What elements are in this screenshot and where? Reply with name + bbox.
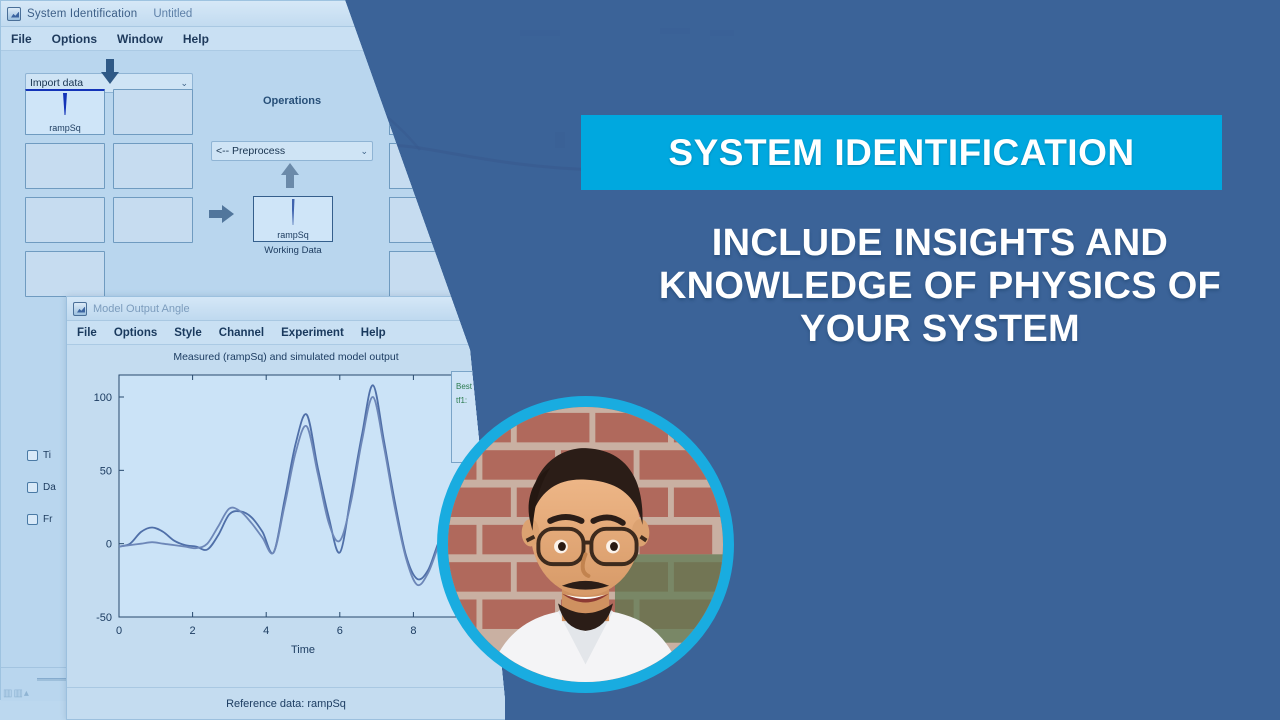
model-output-window: Model Output Angle File Options Style Ch… — [66, 296, 506, 720]
data-cell-empty[interactable] — [113, 89, 193, 135]
data-cell-empty[interactable] — [25, 143, 105, 189]
mo-menu-file[interactable]: File — [77, 327, 97, 339]
si-menubar: File Options Window Help — [1, 27, 529, 51]
operations-label: Operations — [263, 95, 321, 107]
svg-text:100: 100 — [94, 392, 112, 404]
chevron-down-icon: ⌄ — [360, 146, 368, 157]
preprocess-select[interactable]: <-- Preprocess ⌄ — [211, 141, 373, 161]
si-menu-file[interactable]: File — [11, 32, 32, 46]
si-status-glyphs: ▥▥▴ — [3, 688, 30, 699]
checkbox-box[interactable] — [27, 482, 38, 493]
checkbox-label: Fr — [43, 514, 52, 525]
working-data-box[interactable]: rampSq — [253, 196, 333, 242]
signal-spike-icon — [63, 93, 67, 115]
data-cell-empty[interactable] — [113, 197, 193, 243]
headline-banner: SYSTEM IDENTIFICATION — [581, 115, 1222, 190]
arrow-up-icon — [279, 163, 301, 194]
signal-spike-icon — [292, 199, 295, 225]
si-window-subtitle: Untitled — [153, 8, 192, 20]
import-data-value: Import data — [30, 77, 83, 89]
mo-menu-help[interactable]: Help — [361, 327, 386, 339]
chevron-down-icon: ⌄ — [180, 78, 188, 89]
checkbox-label: Ti — [43, 450, 51, 461]
legend-entry-tf1: tf1: — [456, 394, 532, 408]
avatar — [437, 396, 734, 693]
si-menu-options[interactable]: Options — [52, 32, 97, 46]
checkbox-box[interactable] — [27, 450, 38, 461]
checkbox-frequency-resp[interactable]: Fr — [27, 514, 52, 525]
svg-text:Time: Time — [291, 644, 315, 656]
model-cell-empty[interactable] — [389, 251, 465, 297]
checkbox-data-spectra[interactable]: Da — [27, 482, 56, 493]
mo-menu-experiment[interactable]: Experiment — [281, 327, 344, 339]
subheadline-text: INCLUDE INSIGHTS AND KNOWLEDGE OF PHYSIC… — [620, 222, 1260, 351]
legend-entry-best-fits: Best Fits — [456, 380, 532, 394]
svg-text:0: 0 — [116, 625, 122, 637]
checkbox-label: Da — [43, 482, 56, 493]
svg-text:2: 2 — [190, 625, 196, 637]
svg-text:50: 50 — [100, 465, 112, 477]
data-cell-label: rampSq — [26, 123, 104, 133]
svg-text:8: 8 — [410, 625, 416, 637]
data-cell-empty[interactable] — [25, 197, 105, 243]
data-cell-empty[interactable] — [113, 143, 193, 189]
working-data-label: rampSq — [254, 230, 332, 240]
arrow-right-icon — [209, 203, 235, 230]
data-cell-empty[interactable] — [25, 251, 105, 297]
si-window-title: System Identification — [27, 8, 137, 20]
svg-text:-50: -50 — [96, 612, 112, 624]
checkbox-box[interactable] — [27, 514, 38, 525]
matlab-window-icon — [7, 7, 21, 21]
data-cell-rampsq[interactable]: rampSq — [25, 89, 105, 135]
si-titlebar: System Identification Untitled — [1, 1, 529, 27]
si-menu-window[interactable]: Window — [117, 32, 163, 46]
mo-statusbar: Reference data: rampSq — [67, 687, 505, 719]
svg-text:6: 6 — [337, 625, 343, 637]
mo-menu-channel[interactable]: Channel — [219, 327, 264, 339]
checkbox-time-plot[interactable]: Ti — [27, 450, 51, 461]
mo-menu-options[interactable]: Options — [114, 327, 157, 339]
headline-text: SYSTEM IDENTIFICATION — [668, 132, 1134, 174]
preprocess-value: <-- Preprocess — [216, 145, 285, 157]
working-data-caption: Working Data — [253, 245, 333, 256]
svg-text:4: 4 — [263, 625, 269, 637]
mo-menu-style[interactable]: Style — [174, 327, 202, 339]
si-menu-help[interactable]: Help — [183, 32, 209, 46]
matlab-window-icon — [73, 302, 87, 316]
mo-menubar: File Options Style Channel Experiment He… — [67, 321, 505, 345]
model-cell-empty[interactable] — [389, 143, 465, 189]
presenter-headshot — [448, 407, 723, 682]
chart-title: Measured (rampSq) and simulated model ou… — [67, 351, 505, 363]
model-cell-empty[interactable] — [389, 89, 465, 135]
mo-titlebar: Model Output Angle — [67, 297, 505, 321]
model-cell-empty[interactable] — [389, 197, 465, 243]
reference-data-status: Reference data: rampSq — [226, 698, 346, 710]
arrow-down-icon — [99, 59, 121, 90]
mo-window-title: Model Output Angle — [93, 303, 190, 315]
svg-text:0: 0 — [106, 539, 112, 551]
